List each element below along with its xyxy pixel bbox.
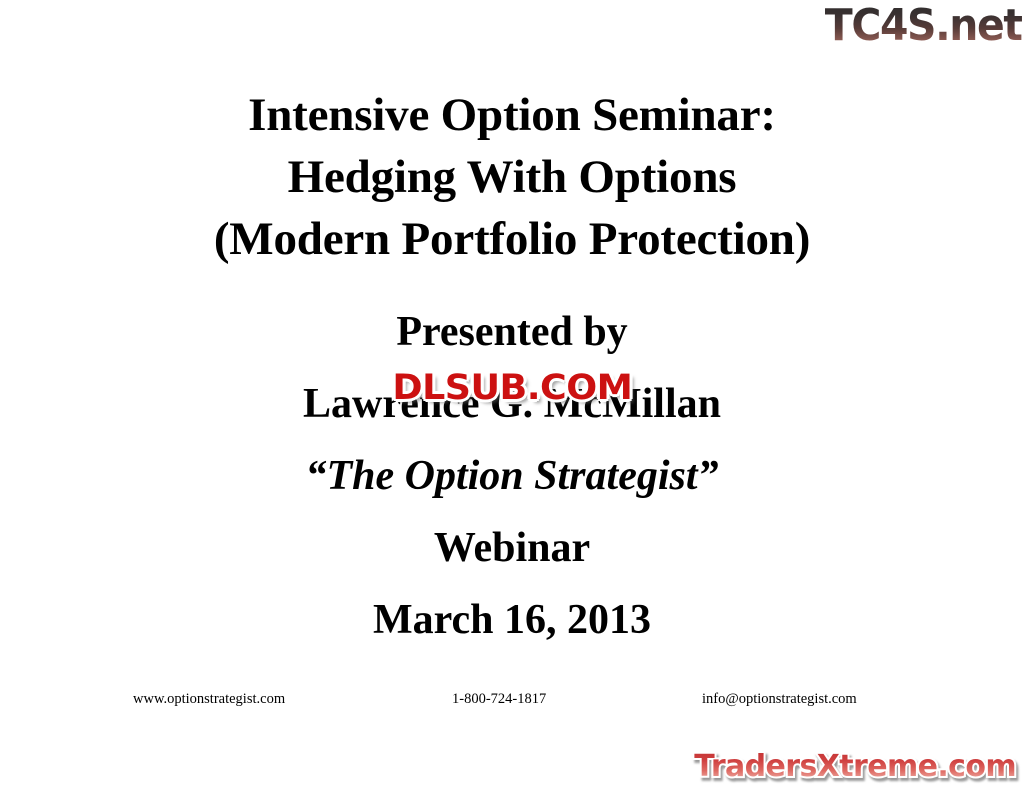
footer-contact-row: www.optionstrategist.com 1-800-724-1817 … bbox=[0, 688, 1024, 710]
slide-body: Presented by Lawrence G. McMillan “The O… bbox=[0, 296, 1024, 656]
title-line-1: Intensive Option Seminar: bbox=[0, 84, 1024, 146]
page-title: Intensive Option Seminar: Hedging With O… bbox=[0, 84, 1024, 270]
title-line-3: (Modern Portfolio Protection) bbox=[0, 208, 1024, 270]
footer-email: info@optionstrategist.com bbox=[702, 688, 857, 710]
footer-website: www.optionstrategist.com bbox=[133, 688, 285, 710]
watermark-tradersxtreme-text: TradersXtreme.com bbox=[694, 749, 1016, 784]
event-type: Webinar bbox=[0, 512, 1024, 584]
title-line-2: Hedging With Options bbox=[0, 146, 1024, 208]
presenter-title: “The Option Strategist” bbox=[0, 440, 1024, 512]
footer-phone: 1-800-724-1817 bbox=[452, 688, 546, 710]
presenter-name: Lawrence G. McMillan bbox=[0, 368, 1024, 440]
event-date: March 16, 2013 bbox=[0, 584, 1024, 656]
slide-canvas: TC4S.net Intensive Option Seminar: Hedgi… bbox=[0, 0, 1024, 791]
presented-by-label: Presented by bbox=[0, 296, 1024, 368]
watermark-tradersxtreme-com: TradersXtreme.com TradersXtreme.com bbox=[694, 749, 1016, 785]
watermark-tc4s-net: TC4S.net bbox=[825, 2, 1022, 50]
